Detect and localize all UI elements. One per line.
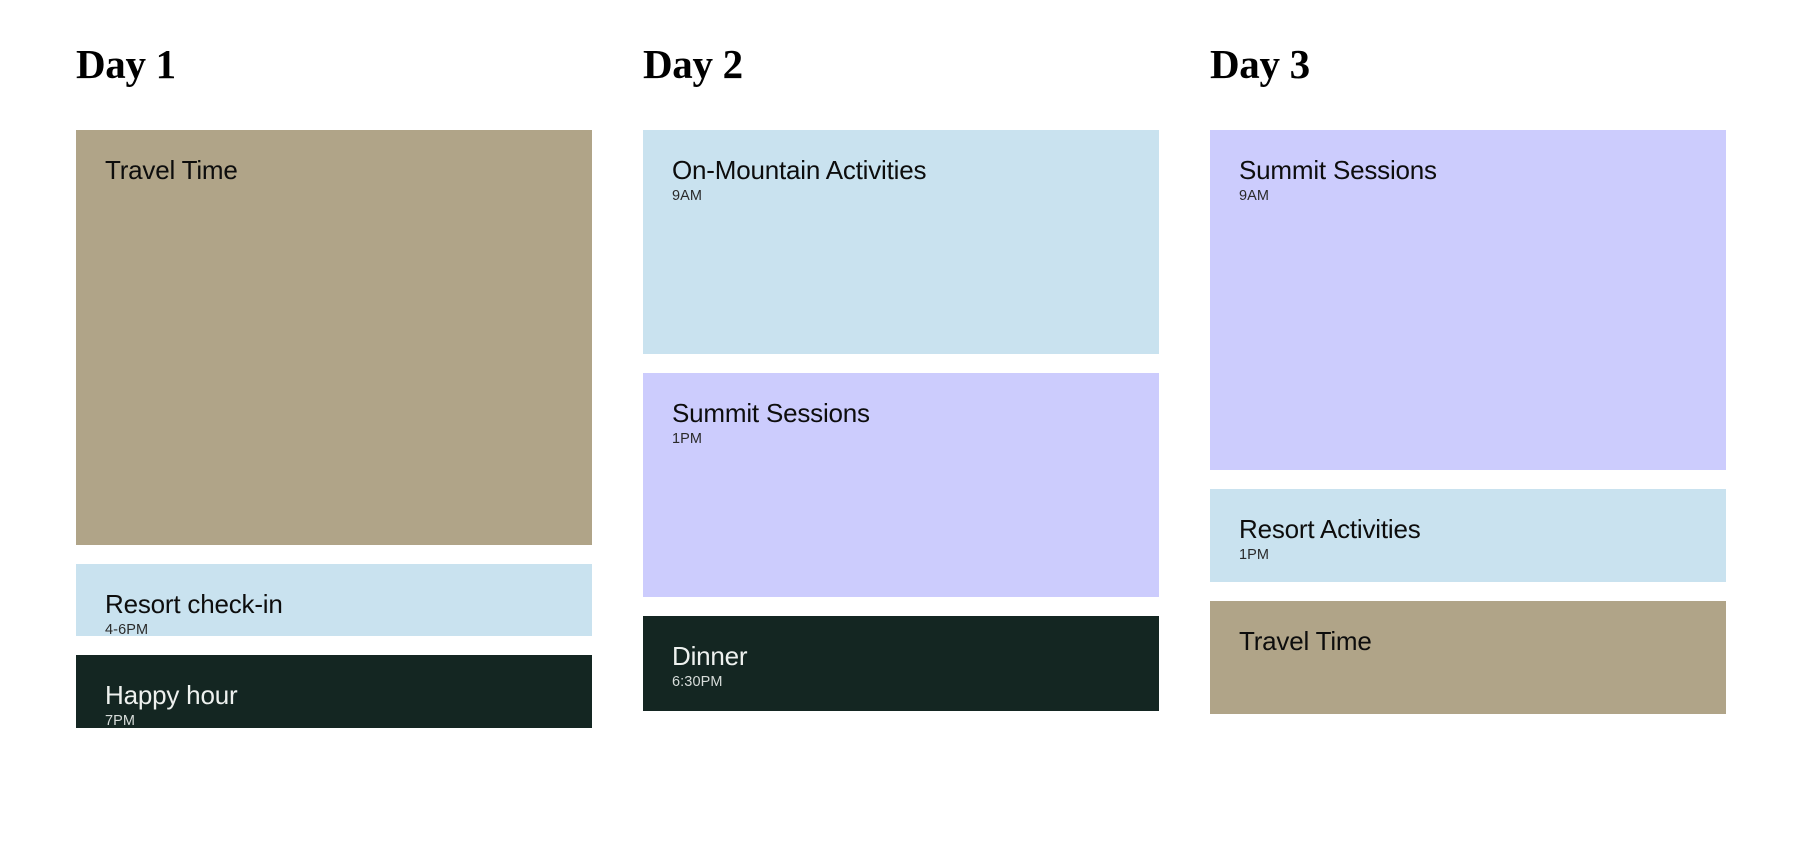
event-title: Summit Sessions <box>672 399 1130 428</box>
event-block[interactable]: Travel Time <box>76 130 592 545</box>
day-columns: Day 1Travel TimeResort check-in4-6PMHapp… <box>0 0 1802 728</box>
event-time: 6:30PM <box>672 673 1130 692</box>
event-time: 9AM <box>672 187 1130 206</box>
itinerary-board: Day 1Travel TimeResort check-in4-6PMHapp… <box>0 0 1802 856</box>
event-list: Summit Sessions9AMResort Activities1PMTr… <box>1210 130 1726 714</box>
event-block[interactable]: Dinner6:30PM <box>643 616 1159 711</box>
event-title: Resort check-in <box>105 590 563 619</box>
event-block[interactable]: Travel Time <box>1210 601 1726 714</box>
event-title: Summit Sessions <box>1239 156 1697 185</box>
event-block[interactable]: On-Mountain Activities9AM <box>643 130 1159 354</box>
event-time: 9AM <box>1239 187 1697 206</box>
event-title: Happy hour <box>105 681 563 710</box>
event-title: Dinner <box>672 642 1130 671</box>
day-title: Day 2 <box>643 44 1159 85</box>
event-time: 4-6PM <box>105 621 563 636</box>
event-block[interactable]: Happy hour7PM <box>76 655 592 728</box>
event-title: Travel Time <box>105 156 563 185</box>
day-column: Day 2On-Mountain Activities9AMSummit Ses… <box>643 44 1159 728</box>
day-title: Day 1 <box>76 44 592 85</box>
event-block[interactable]: Summit Sessions9AM <box>1210 130 1726 470</box>
event-time: 7PM <box>105 712 563 728</box>
event-time: 1PM <box>672 430 1130 449</box>
event-list: Travel TimeResort check-in4-6PMHappy hou… <box>76 130 592 728</box>
event-block[interactable]: Resort check-in4-6PM <box>76 564 592 636</box>
event-title: On-Mountain Activities <box>672 156 1130 185</box>
event-title: Travel Time <box>1239 627 1697 656</box>
day-column: Day 3Summit Sessions9AMResort Activities… <box>1210 44 1726 728</box>
day-title: Day 3 <box>1210 44 1726 85</box>
event-title: Resort Activities <box>1239 515 1697 544</box>
event-list: On-Mountain Activities9AMSummit Sessions… <box>643 130 1159 711</box>
day-column: Day 1Travel TimeResort check-in4-6PMHapp… <box>76 44 592 728</box>
event-block[interactable]: Resort Activities1PM <box>1210 489 1726 582</box>
event-time: 1PM <box>1239 546 1697 565</box>
event-block[interactable]: Summit Sessions1PM <box>643 373 1159 597</box>
